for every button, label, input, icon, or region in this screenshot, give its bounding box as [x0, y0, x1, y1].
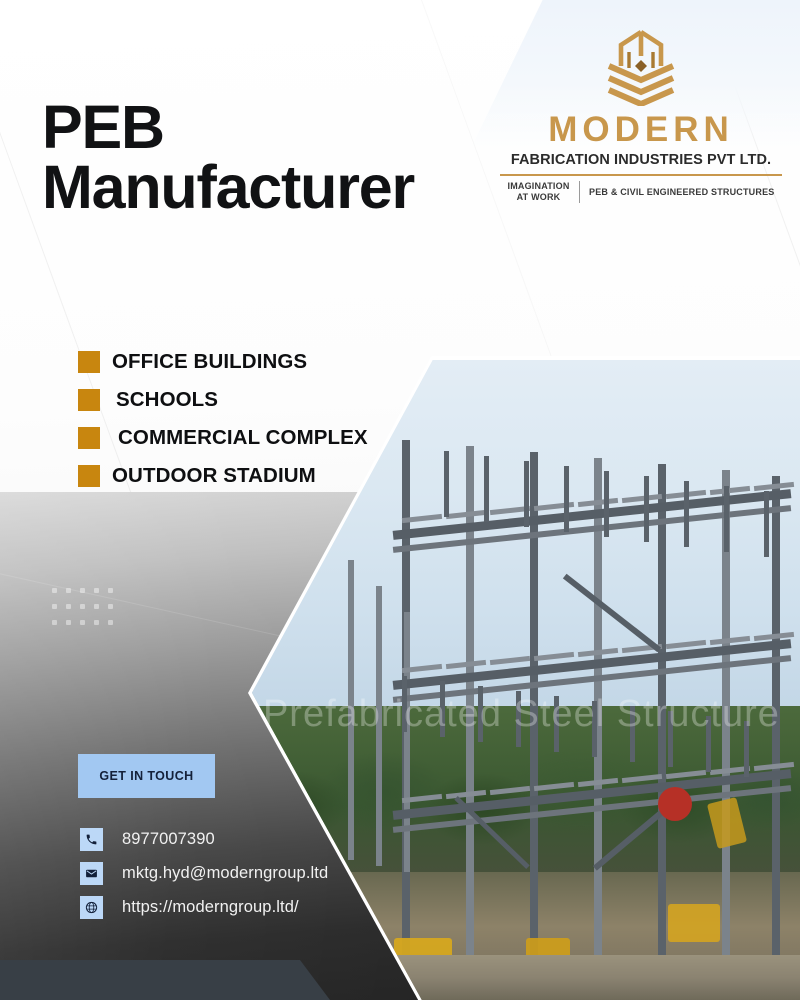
steel-member: [604, 471, 609, 537]
steel-member: [530, 452, 538, 964]
steel-member: [524, 461, 529, 527]
headline-line-2: Manufacturer: [42, 158, 512, 218]
service-item-label: OFFICE BUILDINGS: [112, 350, 307, 374]
steel-member: [644, 476, 649, 542]
steel-member: [440, 681, 445, 737]
service-item: SCHOOLS: [78, 388, 498, 412]
contact-item[interactable]: https://moderngroup.ltd/: [80, 896, 328, 919]
email-icon: [80, 862, 103, 885]
company-logo: MODERN FABRICATION INDUSTRIES PVT LTD. I…: [496, 26, 786, 203]
steel-member: [534, 782, 574, 791]
steel-member: [658, 464, 666, 968]
page-title: PEB Manufacturer: [42, 98, 512, 218]
steel-member: [478, 686, 483, 742]
phone-icon: [80, 828, 103, 851]
steel-member: [764, 491, 769, 557]
bullet-square-icon: [78, 465, 100, 487]
service-item: OUTDOOR STADIUM: [78, 464, 498, 488]
steel-member: [404, 612, 410, 872]
steel-member: [630, 706, 635, 762]
logo-tagline: IMAGINATION AT WORK PEB & CIVIL ENGINEER…: [496, 181, 786, 204]
steel-member: [376, 586, 382, 866]
get-in-touch-button[interactable]: GET IN TOUCH: [78, 754, 215, 798]
steel-member: [564, 466, 569, 532]
poster-root: Prefabricated Steel Structure PEB Manufa…: [0, 0, 800, 1000]
contact-value: 8977007390: [122, 830, 215, 849]
service-item-label: SCHOOLS: [116, 388, 218, 412]
steel-member: [592, 701, 597, 757]
steel-member: [516, 691, 521, 747]
layered-building-chevron-logo-icon: [595, 26, 687, 106]
steel-member: [490, 786, 530, 795]
steel-member: [724, 486, 729, 552]
photo-drum-red: [658, 787, 692, 821]
steel-member: [668, 711, 673, 767]
contact-item[interactable]: 8977007390: [80, 828, 328, 851]
decorative-dot-grid: [52, 588, 114, 632]
logo-company-name: MODERN: [496, 112, 786, 147]
steel-member: [744, 721, 749, 777]
logo-tagline-right: PEB & CIVIL ENGINEERED STRUCTURES: [589, 187, 774, 197]
service-item-label: OUTDOOR STADIUM: [112, 464, 316, 488]
contact-list: 8977007390mktg.hyd@moderngroup.ltdhttps:…: [80, 828, 328, 930]
contact-item[interactable]: mktg.hyd@moderngroup.ltd: [80, 862, 328, 885]
logo-company-subtitle: FABRICATION INDUSTRIES PVT LTD.: [496, 152, 786, 168]
logo-divider-rule: [500, 174, 782, 176]
contact-value: https://moderngroup.ltd/: [122, 898, 299, 917]
bullet-square-icon: [78, 427, 100, 449]
steel-member: [706, 716, 711, 772]
bullet-square-icon: [78, 351, 100, 373]
headline-line-1: PEB: [42, 93, 164, 161]
service-item: COMMERCIAL COMPLEX: [78, 426, 498, 450]
steel-member: [402, 676, 407, 732]
globe-icon: [80, 896, 103, 919]
services-list: OFFICE BUILDINGSSCHOOLSCOMMERCIAL COMPLE…: [78, 350, 498, 502]
steel-member: [622, 774, 662, 783]
steel-member: [348, 560, 354, 860]
steel-member: [490, 656, 530, 665]
photo-machine-yellow: [668, 904, 720, 942]
logo-tagline-divider: [579, 181, 581, 203]
steel-member: [684, 481, 689, 547]
service-item: OFFICE BUILDINGS: [78, 350, 498, 374]
steel-member: [554, 696, 559, 752]
logo-tagline-left-line-2: AT WORK: [508, 192, 570, 203]
logo-tagline-left-line-1: IMAGINATION: [508, 181, 570, 192]
steel-member: [563, 574, 661, 653]
service-item-label: COMMERCIAL COMPLEX: [118, 426, 368, 450]
steel-member: [622, 494, 662, 503]
contact-value: mktg.hyd@moderngroup.ltd: [122, 864, 328, 883]
steel-member: [772, 476, 780, 972]
steel-member: [534, 652, 574, 661]
bullet-square-icon: [78, 389, 100, 411]
